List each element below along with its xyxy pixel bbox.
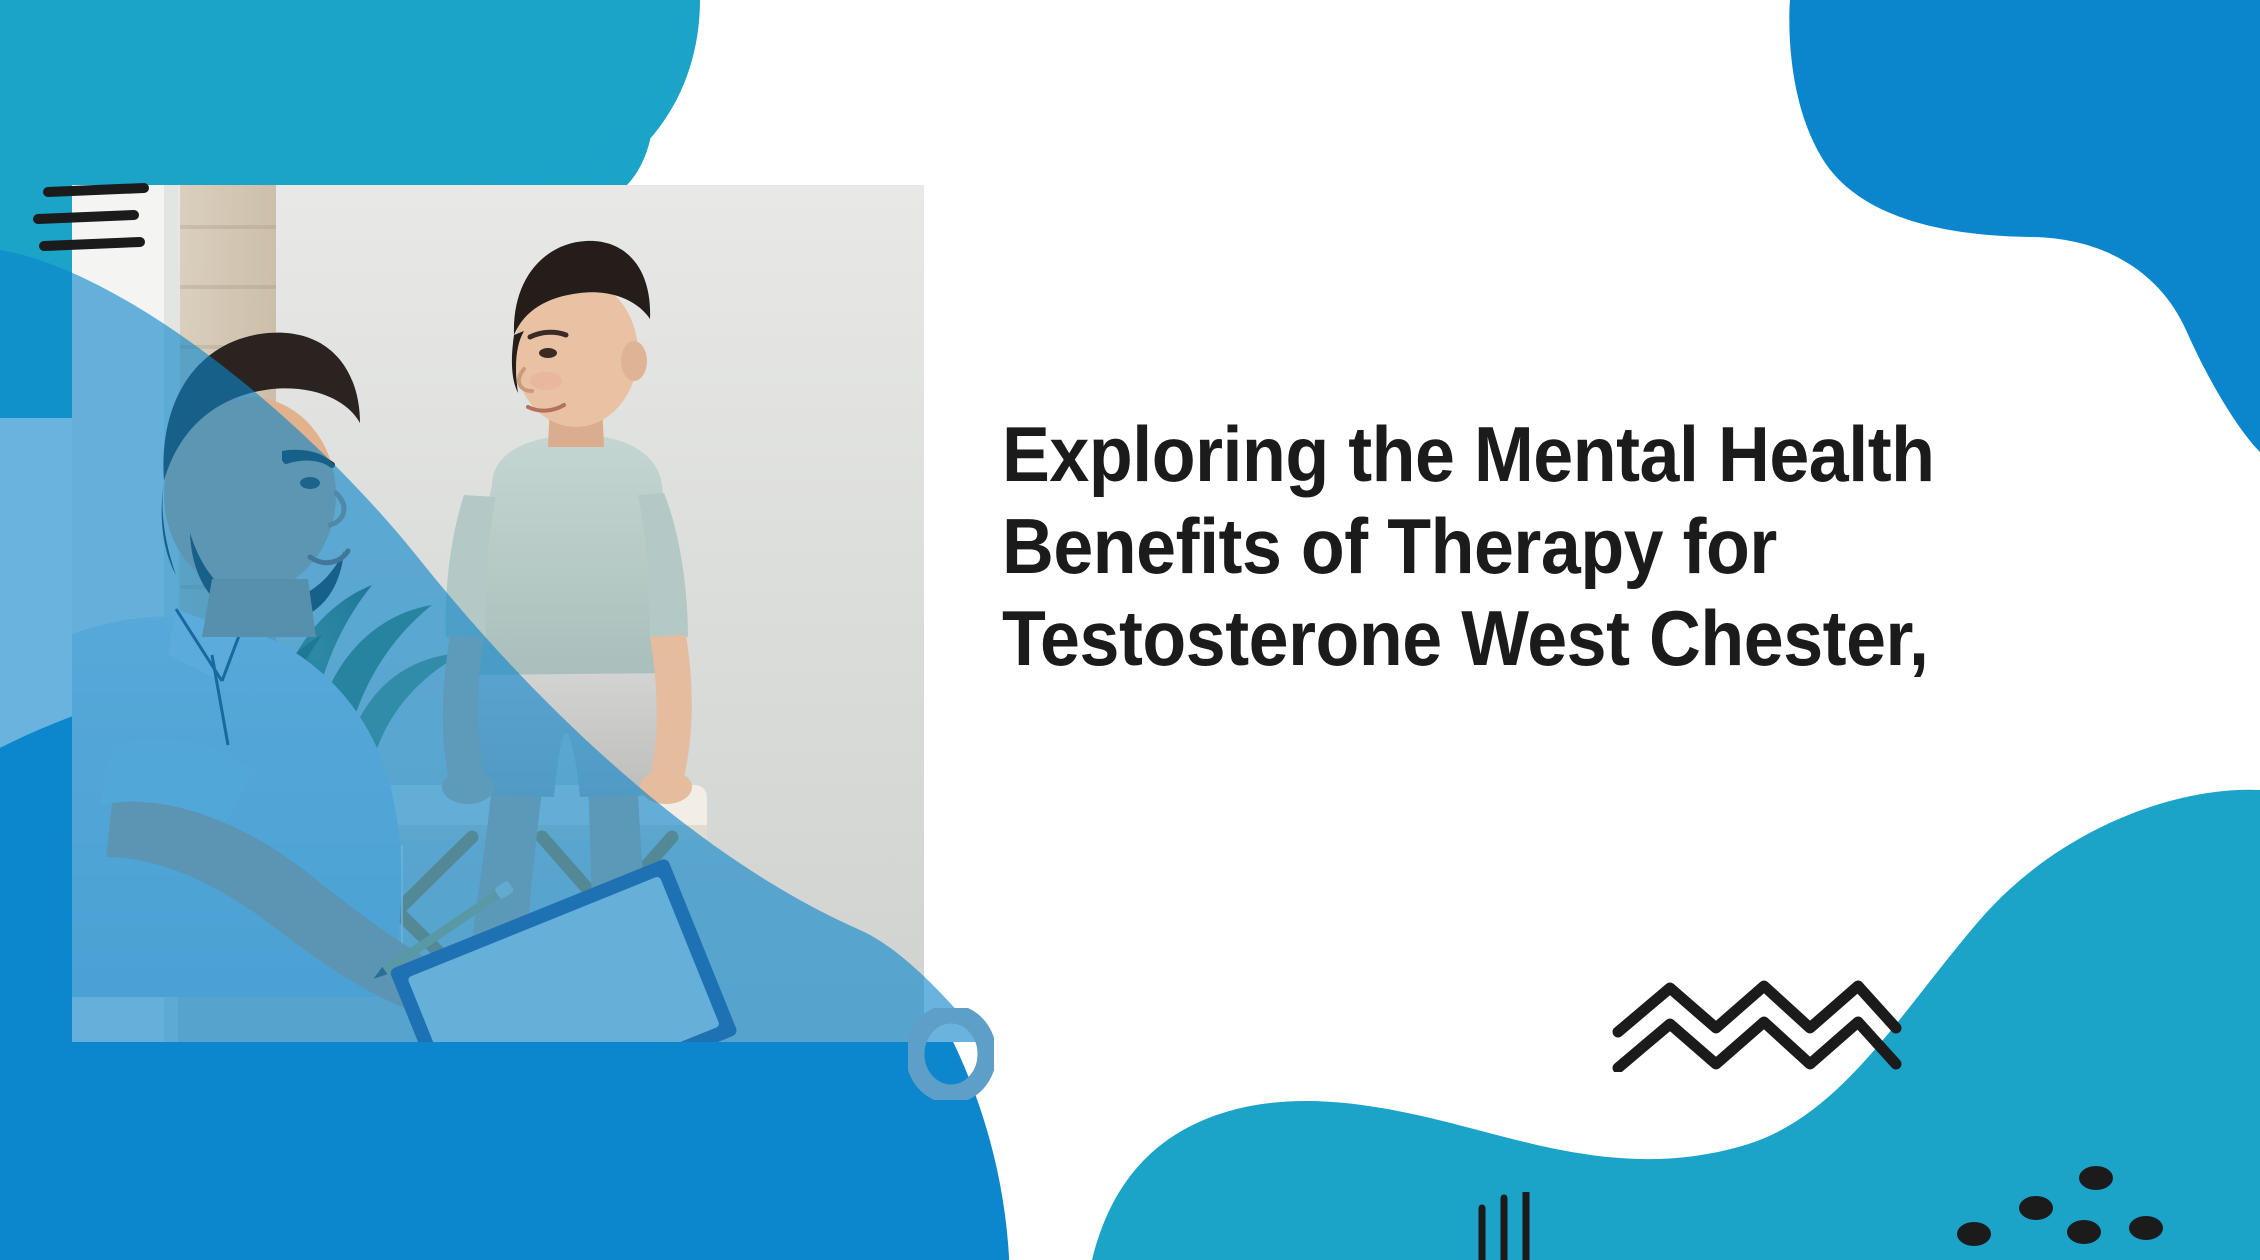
blob-top-right bbox=[1789, 0, 2260, 452]
three-slanted-lines-icon bbox=[30, 182, 160, 256]
blob-bottom-left-core bbox=[0, 1042, 988, 1260]
hero-photo-illustration bbox=[72, 185, 924, 1042]
headline-line-1: Exploring the Mental Health bbox=[1002, 410, 1935, 498]
hero-photo bbox=[72, 185, 924, 1042]
page-title: Exploring the Mental Health Benefits of … bbox=[1002, 408, 2143, 684]
blob-top-left-round bbox=[0, 0, 690, 185]
three-vertical-lines-icon bbox=[1472, 1192, 1542, 1260]
dot-cluster-icon bbox=[1950, 1160, 2200, 1250]
headline-line-2: Benefits of Therapy for bbox=[1002, 502, 1777, 590]
blob-top-left-lobe bbox=[400, 0, 700, 185]
headline-block: Exploring the Mental Health Benefits of … bbox=[1002, 408, 2242, 684]
blob-top-left bbox=[0, 0, 655, 185]
headline-line-3: Testosterone West Chester, bbox=[1002, 594, 1929, 682]
blob-bottom-left-lower bbox=[0, 1042, 985, 1260]
ring-icon bbox=[908, 1008, 994, 1100]
blog-banner: Exploring the Mental Health Benefits of … bbox=[0, 0, 2260, 1260]
zigzag-waves-icon bbox=[1612, 972, 1902, 1072]
